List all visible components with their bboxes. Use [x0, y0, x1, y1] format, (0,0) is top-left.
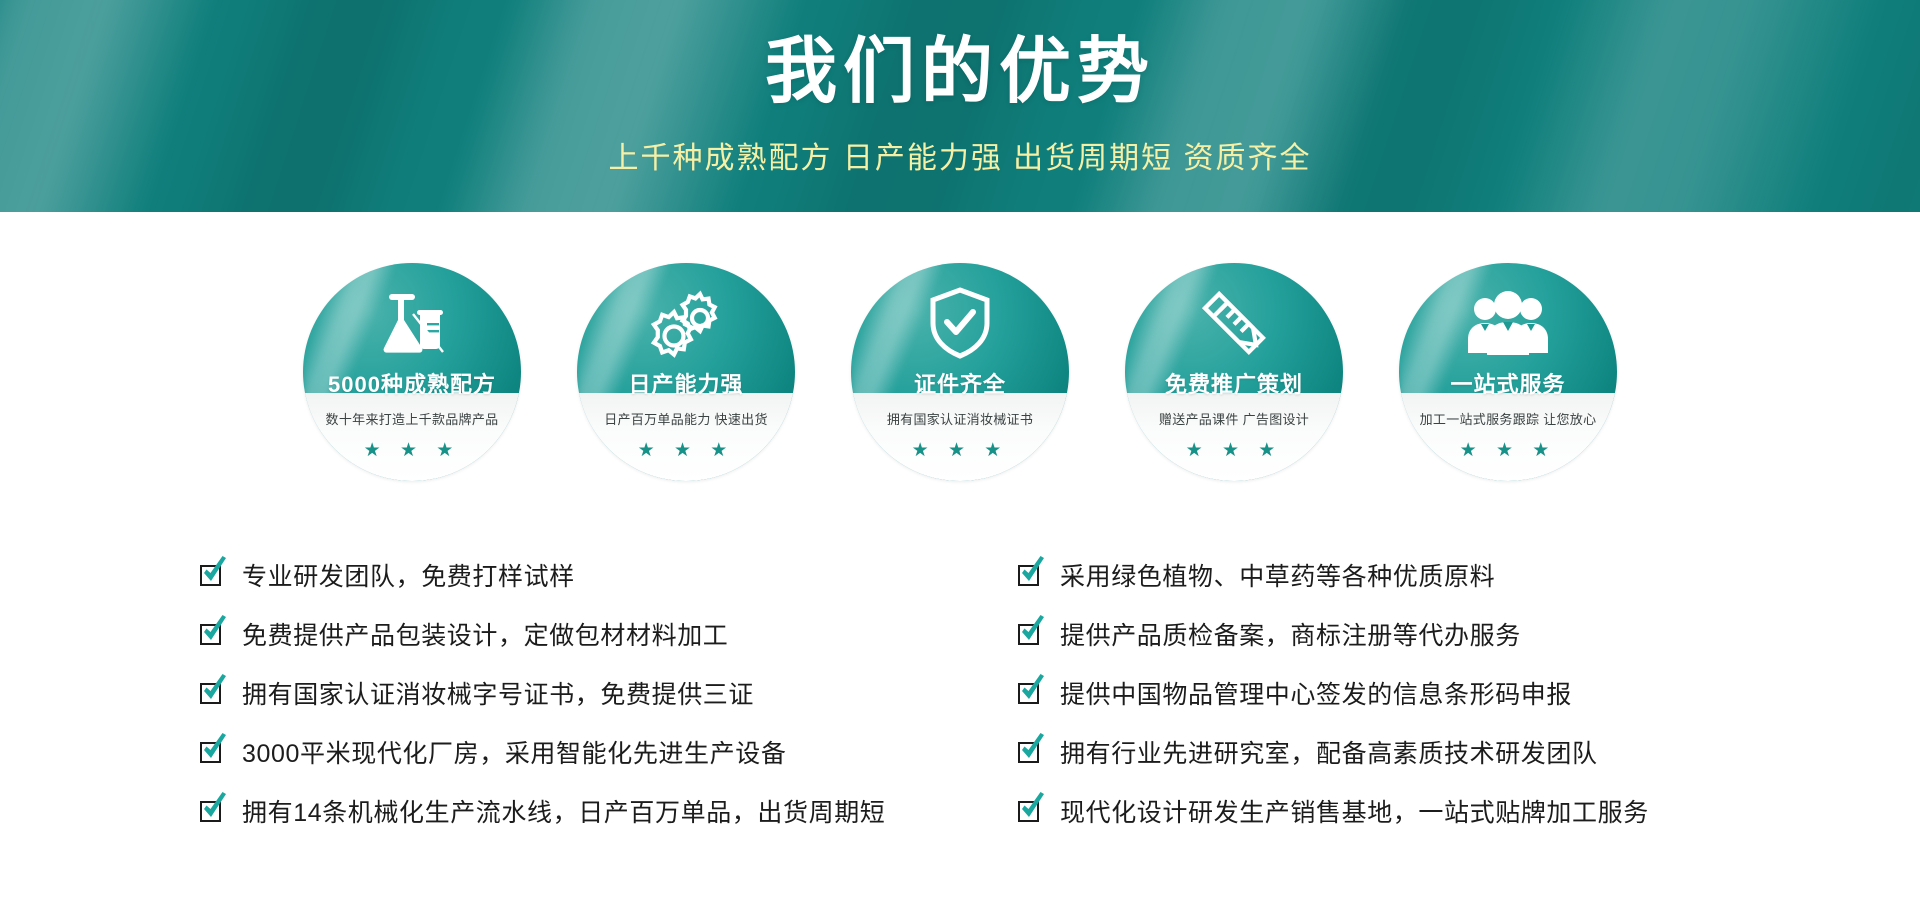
- feature-lists: 专业研发团队，免费打样试样 免费提供产品包装设计，定做包材材料加工: [0, 545, 1920, 840]
- badge-description: 日产百万单品能力 快速出货: [577, 409, 795, 428]
- check-icon: [1018, 798, 1042, 822]
- feature-column-right: 采用绿色植物、中草药等各种优质原料 提供产品质检备案，商标注册等代办服务: [960, 545, 1720, 840]
- badge-stars: ★ ★ ★: [851, 439, 1069, 462]
- badge-bottom-panel: [303, 393, 521, 481]
- badge-bottom-panel: [851, 393, 1069, 481]
- check-icon: [200, 680, 224, 704]
- feature-text: 现代化设计研发生产销售基地，一站式贴牌加工服务: [1060, 793, 1649, 829]
- ruler-pencil-icon: [1125, 287, 1343, 359]
- people-team-icon: [1399, 287, 1617, 359]
- badge-description: 数十年来打造上千款品牌产品: [303, 409, 521, 428]
- badge-description: 拥有国家认证消妆械证书: [851, 409, 1069, 428]
- list-item: 拥有国家认证消妆械字号证书，免费提供三证: [200, 663, 960, 722]
- badge-bottom-panel: [1399, 393, 1617, 481]
- list-item: 拥有行业先进研究室，配备高素质技术研发团队: [1018, 722, 1720, 781]
- check-icon: [1018, 739, 1042, 763]
- feature-text: 拥有14条机械化生产流水线，日产百万单品，出货周期短: [242, 793, 885, 829]
- header-banner: 我们的优势 上千种成熟配方 日产能力强 出货周期短 资质齐全: [0, 0, 1920, 212]
- badge-certificates[interactable]: 证件齐全 拥有国家认证消妆械证书 ★ ★ ★: [851, 263, 1069, 481]
- badge-title: 证件齐全: [851, 367, 1069, 399]
- badge-title: 一站式服务: [1399, 367, 1617, 399]
- gears-icon: [577, 287, 795, 359]
- feature-text: 3000平米现代化厂房，采用智能化先进生产设备: [242, 734, 786, 770]
- check-icon: [200, 621, 224, 645]
- feature-text: 拥有国家认证消妆械字号证书，免费提供三证: [242, 675, 754, 711]
- list-item: 免费提供产品包装设计，定做包材材料加工: [200, 604, 960, 663]
- list-item: 提供产品质检备案，商标注册等代办服务: [1018, 604, 1720, 663]
- badge-stars: ★ ★ ★: [303, 439, 521, 462]
- check-icon: [200, 739, 224, 763]
- advantages-page: 我们的优势 上千种成熟配方 日产能力强 出货周期短 资质齐全: [0, 0, 1920, 909]
- check-icon: [200, 798, 224, 822]
- badge-title: 5000种成熟配方: [303, 367, 521, 399]
- list-item: 提供中国物品管理中心签发的信息条形码申报: [1018, 663, 1720, 722]
- feature-text: 专业研发团队，免费打样试样: [242, 557, 575, 593]
- page-title: 我们的优势: [765, 35, 1155, 111]
- feature-text: 采用绿色植物、中草药等各种优质原料: [1060, 557, 1495, 593]
- feature-text: 提供产品质检备案，商标注册等代办服务: [1060, 616, 1521, 652]
- badge-stars: ★ ★ ★: [1399, 439, 1617, 462]
- list-item: 拥有14条机械化生产流水线，日产百万单品，出货周期短: [200, 781, 960, 840]
- badge-capacity[interactable]: 日产能力强 日产百万单品能力 快速出货 ★ ★ ★: [577, 263, 795, 481]
- flask-beaker-icon: [303, 287, 521, 359]
- shield-check-icon: [851, 287, 1069, 359]
- badge-one-stop-service[interactable]: 一站式服务 加工一站式服务跟踪 让您放心 ★ ★ ★: [1399, 263, 1617, 481]
- badge-bottom-panel: [1125, 393, 1343, 481]
- badge-title: 免费推广策划: [1125, 367, 1343, 399]
- badge-bottom-panel: [577, 393, 795, 481]
- badge-description: 加工一站式服务跟踪 让您放心: [1399, 409, 1617, 428]
- badge-row: 5000种成熟配方 数十年来打造上千款品牌产品 ★ ★ ★ 日产能力强 日产百万: [0, 263, 1920, 481]
- badge-stars: ★ ★ ★: [1125, 439, 1343, 462]
- check-icon: [200, 562, 224, 586]
- list-item: 现代化设计研发生产销售基地，一站式贴牌加工服务: [1018, 781, 1720, 840]
- check-icon: [1018, 562, 1042, 586]
- feature-column-left: 专业研发团队，免费打样试样 免费提供产品包装设计，定做包材材料加工: [200, 545, 960, 840]
- badge-formulas[interactable]: 5000种成熟配方 数十年来打造上千款品牌产品 ★ ★ ★: [303, 263, 521, 481]
- check-icon: [1018, 621, 1042, 645]
- feature-text: 提供中国物品管理中心签发的信息条形码申报: [1060, 675, 1572, 711]
- badge-promotion[interactable]: 免费推广策划 赠送产品课件 广告图设计 ★ ★ ★: [1125, 263, 1343, 481]
- badge-stars: ★ ★ ★: [577, 439, 795, 462]
- check-icon: [1018, 680, 1042, 704]
- feature-text: 免费提供产品包装设计，定做包材材料加工: [242, 616, 728, 652]
- badge-title: 日产能力强: [577, 367, 795, 399]
- page-subtitle: 上千种成熟配方 日产能力强 出货周期短 资质齐全: [608, 133, 1311, 177]
- list-item: 采用绿色植物、中草药等各种优质原料: [1018, 545, 1720, 604]
- list-item: 专业研发团队，免费打样试样: [200, 545, 960, 604]
- feature-text: 拥有行业先进研究室，配备高素质技术研发团队: [1060, 734, 1598, 770]
- badge-description: 赠送产品课件 广告图设计: [1125, 409, 1343, 428]
- list-item: 3000平米现代化厂房，采用智能化先进生产设备: [200, 722, 960, 781]
